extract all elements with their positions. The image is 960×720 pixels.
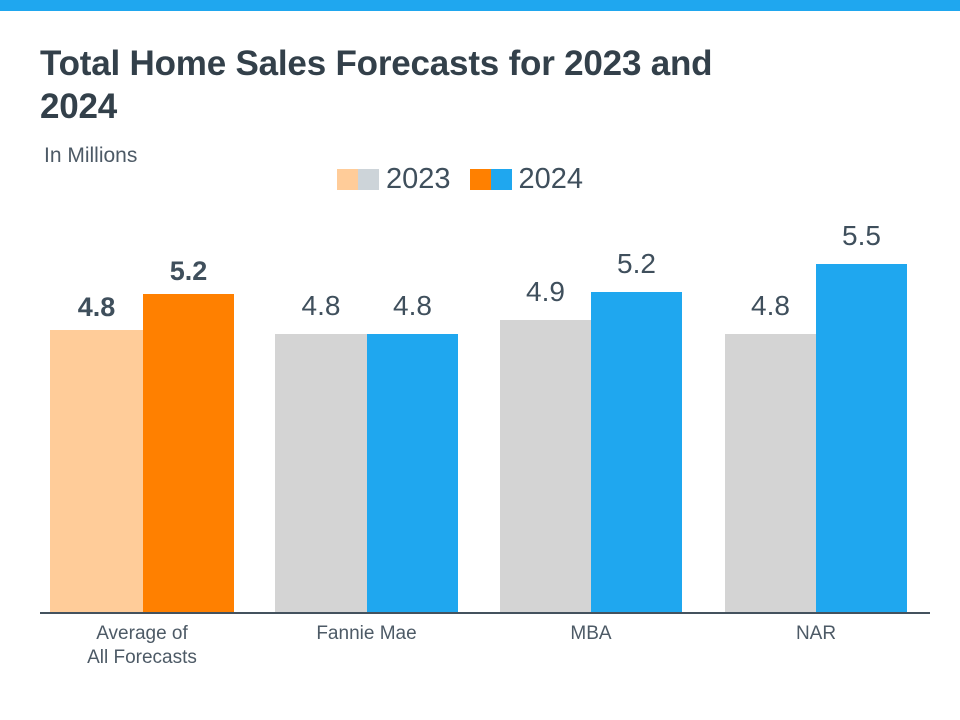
bar-2023-nar bbox=[725, 334, 816, 612]
bar-label-2024-nar: 5.5 bbox=[816, 222, 907, 250]
chart-plot-area: 4.8 5.2 Average of All Forecasts 4.8 4.8… bbox=[0, 0, 960, 720]
bar-label-2023-average: 4.8 bbox=[50, 294, 143, 321]
category-label-fannie-mae: Fannie Mae bbox=[275, 622, 458, 646]
category-label-average: Average of All Forecasts bbox=[50, 622, 234, 670]
category-label-mba-line1: MBA bbox=[500, 622, 682, 646]
bar-label-2024-fannie-mae: 4.8 bbox=[367, 292, 458, 320]
bar-2023-average bbox=[50, 330, 143, 612]
bar-label-2024-average: 5.2 bbox=[143, 258, 234, 285]
bar-label-2023-fannie-mae: 4.8 bbox=[275, 292, 367, 320]
category-label-average-line2: All Forecasts bbox=[50, 646, 234, 670]
bar-2024-nar bbox=[816, 264, 907, 612]
bar-label-2023-mba: 4.9 bbox=[500, 278, 591, 306]
bar-label-2024-mba: 5.2 bbox=[591, 250, 682, 278]
category-label-mba: MBA bbox=[500, 622, 682, 646]
bar-2024-fannie-mae bbox=[367, 334, 458, 612]
bar-2024-average bbox=[143, 294, 234, 612]
bar-2023-fannie-mae bbox=[275, 334, 367, 612]
category-label-average-line1: Average of bbox=[50, 622, 234, 646]
x-axis-line bbox=[40, 612, 930, 614]
bar-2023-mba bbox=[500, 320, 591, 612]
bar-label-2023-nar: 4.8 bbox=[725, 292, 816, 320]
category-label-fannie-mae-line1: Fannie Mae bbox=[275, 622, 458, 646]
category-label-nar: NAR bbox=[725, 622, 907, 646]
bar-2024-mba bbox=[591, 292, 682, 612]
category-label-nar-line1: NAR bbox=[725, 622, 907, 646]
